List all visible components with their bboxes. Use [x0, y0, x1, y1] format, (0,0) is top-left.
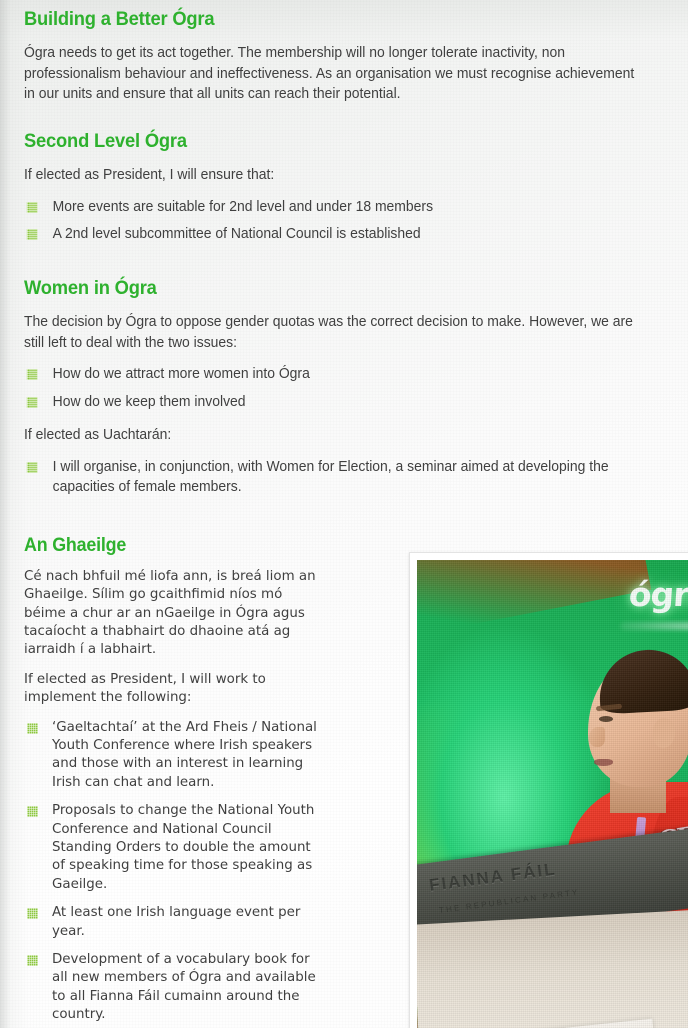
section-heading-building: Building a Better Ógra	[24, 9, 626, 30]
list-item: How do we keep them involved	[24, 392, 635, 420]
conference-photo-frame: ógra CB	[409, 552, 688, 1028]
bullet-square-icon	[27, 955, 38, 966]
bullet-square-icon	[27, 202, 38, 213]
bullet-list-women-issues: How do we attract more women into Ógra H…	[24, 364, 664, 419]
bullet-list-second-level: More events are suitable for 2nd level a…	[24, 197, 664, 252]
list-item: More events are suitable for 2nd level a…	[24, 197, 635, 225]
spacer	[24, 116, 664, 131]
speaker-nose	[589, 727, 605, 747]
section-heading-ghaeilge: An Ghaeilge	[24, 536, 306, 557]
bullet-square-icon	[27, 908, 38, 919]
list-item: I will organise, in conjunction, with Wo…	[24, 457, 635, 505]
section-heading-women: Women in Ógra	[24, 278, 626, 299]
section-paragraph2-ghaeilge: If elected as President, I will work to …	[24, 671, 324, 708]
lower-split-area: An Ghaeilge Cé nach bhfuil mé liofa ann,…	[24, 536, 664, 1028]
bullet-square-icon	[27, 723, 38, 734]
bullet-square-icon	[27, 806, 38, 817]
podium-sign	[476, 1019, 655, 1028]
list-item-label: How do we attract more women into Ógra	[53, 366, 310, 382]
section-intro2-women: If elected as Uachtarán:	[24, 425, 635, 446]
list-item-label: More events are suitable for 2nd level a…	[53, 199, 433, 215]
list-item: A 2nd level subcommittee of National Cou…	[24, 224, 635, 252]
speaker-mouth	[594, 759, 613, 766]
section-heading-second-level: Second Level Ógra	[24, 131, 626, 152]
bullet-square-icon	[27, 397, 38, 408]
list-item: ‘Gaeltachtaí’ at the Ard Fheis / Nationa…	[24, 719, 324, 803]
list-item: Development of a vocabulary book for all…	[24, 951, 324, 1028]
section-building-a-better-ogra: Building a Better Ógra Ógra needs to get…	[24, 9, 664, 105]
list-item-label: Development of a vocabulary book for all…	[52, 952, 316, 1022]
list-item-label: Proposals to change the National Youth C…	[52, 803, 314, 892]
bullet-square-icon	[27, 369, 38, 380]
bullet-square-icon	[27, 229, 38, 240]
section-women-in-ogra: Women in Ógra The decision by Ógra to op…	[24, 278, 664, 505]
podium-sublabel: THE REPUBLICAN PARTY	[438, 888, 579, 915]
list-item: At least one Irish language event per ye…	[24, 904, 324, 951]
podium-body	[417, 909, 688, 1028]
list-item: Proposals to change the National Youth C…	[24, 802, 324, 904]
section-paragraph1-ghaeilge: Cé nach bhfuil mé liofa ann, is breá lio…	[24, 568, 324, 660]
section-an-ghaeilge: An Ghaeilge Cé nach bhfuil mé liofa ann,…	[24, 536, 324, 1028]
spacer	[24, 511, 664, 536]
ogra-logo-text: ógra	[627, 575, 688, 614]
bullet-list-ghaeilge: ‘Gaeltachtaí’ at the Ard Fheis / Nationa…	[24, 719, 324, 1028]
section-intro-women: The decision by Ógra to oppose gender qu…	[24, 312, 635, 353]
list-item-label: A 2nd level subcommittee of National Cou…	[53, 226, 421, 242]
document-page: Building a Better Ógra Ógra needs to get…	[0, 0, 688, 1028]
ogra-logo-underline	[620, 622, 688, 630]
section-second-level-ogra: Second Level Ógra If elected as Presiden…	[24, 131, 664, 252]
list-item: How do we attract more women into Ógra	[24, 364, 635, 392]
speaker-eye	[599, 716, 613, 722]
list-item-label: ‘Gaeltachtaí’ at the Ard Fheis / Nationa…	[52, 720, 317, 790]
list-item-label: How do we keep them involved	[53, 394, 246, 410]
section-intro-second-level: If elected as President, I will ensure t…	[24, 165, 635, 186]
bullet-square-icon	[27, 462, 38, 473]
section-paragraph-building: Ógra needs to get its act together. The …	[24, 43, 635, 105]
conference-photo: ógra CB	[417, 560, 688, 1028]
bullet-list-women-pledges: I will organise, in conjunction, with Wo…	[24, 457, 664, 505]
spacer	[24, 258, 664, 278]
list-item-label: At least one Irish language event per ye…	[52, 905, 300, 938]
podium-label: FIANNA FÁIL	[428, 859, 558, 896]
list-item-label: I will organise, in conjunction, with Wo…	[53, 459, 609, 496]
document-content: Building a Better Ógra Ógra needs to get…	[0, 0, 688, 1028]
